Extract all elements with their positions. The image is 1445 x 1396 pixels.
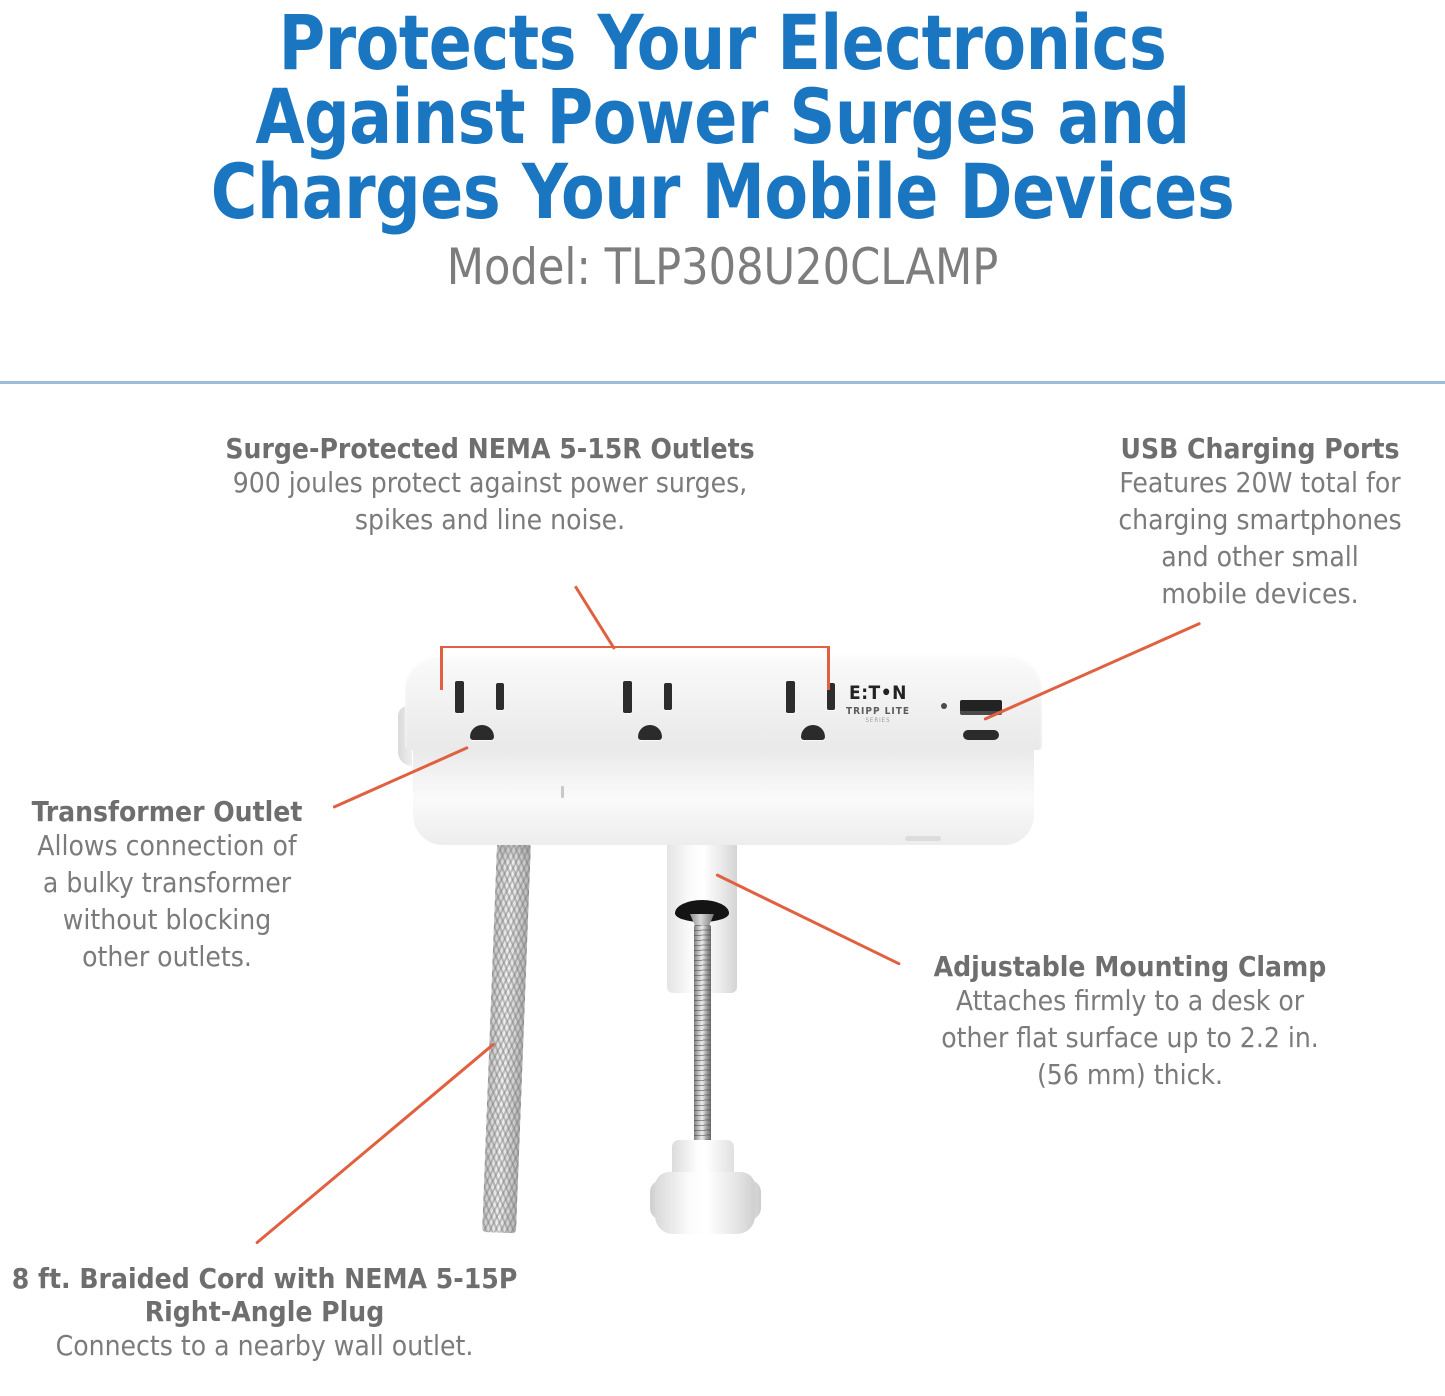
outlet-slot-neutral <box>786 681 795 713</box>
outlet-slot-hot <box>664 683 672 710</box>
callout-body-line: Connects to a nearby wall outlet. <box>0 1328 537 1365</box>
callout-transformer-outlet: Transformer Outlet Allows connection of … <box>0 795 342 976</box>
leader-bracket-outlets-left <box>440 646 443 690</box>
callout-body: Connects to a nearby wall outlet. <box>0 1328 537 1365</box>
callout-braided-cord: 8 ft. Braided Cord with NEMA 5-15P Right… <box>0 1262 537 1365</box>
outlet-slot-neutral <box>623 681 632 713</box>
callout-heading: USB Charging Ports <box>1080 432 1440 465</box>
callout-body-line: 900 joules protect against power surges, <box>125 465 855 502</box>
callout-usb-charging: USB Charging Ports Features 20W total fo… <box>1080 432 1440 613</box>
leader-bracket-outlets-stem <box>574 585 616 649</box>
callout-heading: Transformer Outlet <box>0 795 342 828</box>
callout-body-line: other flat surface up to 2.2 in. <box>890 1020 1370 1057</box>
callout-body-line: without blocking <box>0 902 342 939</box>
eaton-wordmark: E:T•N <box>836 684 920 703</box>
callout-mounting-clamp: Adjustable Mounting Clamp Attaches firml… <box>890 950 1370 1094</box>
callout-body-line: and other small <box>1080 539 1440 576</box>
leader-bracket-outlets-top <box>440 646 830 648</box>
product-illustration: E:T•N TRIPP LITE SERIES <box>0 0 1445 1396</box>
outlet-slot-neutral <box>455 681 464 713</box>
leader-line-cord <box>255 1042 495 1244</box>
outlet-ground-hole <box>801 725 825 740</box>
clamp-tightening-knob <box>655 1172 755 1234</box>
callout-body-line: (56 mm) thick. <box>890 1057 1370 1094</box>
brand-logo: E:T•N TRIPP LITE SERIES <box>836 684 920 724</box>
callout-surge-outlets: Surge-Protected NEMA 5-15R Outlets 900 j… <box>125 432 855 539</box>
leader-bracket-outlets-right <box>827 646 830 690</box>
outlet-slot-hot <box>496 683 504 710</box>
braided-power-cord <box>482 842 531 1233</box>
callout-body-line: spikes and line noise. <box>125 502 855 539</box>
front-face-notch <box>561 786 564 798</box>
nema-outlet-2 <box>614 681 692 751</box>
outlet-ground-hole <box>638 725 662 740</box>
callout-body: Features 20W total for charging smartpho… <box>1080 465 1440 613</box>
callout-body-line: Features 20W total for <box>1080 465 1440 502</box>
callout-heading: Adjustable Mounting Clamp <box>890 950 1370 983</box>
usb-c-port <box>963 730 999 740</box>
nema-outlet-1 <box>446 681 524 751</box>
status-led-icon <box>941 703 947 709</box>
outlet-ground-hole <box>470 725 494 740</box>
callout-body-line: mobile devices. <box>1080 576 1440 613</box>
clamp-threaded-screw <box>694 925 711 1155</box>
callout-body-line: Attaches firmly to a desk or <box>890 983 1370 1020</box>
front-face-seam <box>905 836 941 841</box>
callout-heading: 8 ft. Braided Cord with NEMA 5-15P Right… <box>0 1262 537 1328</box>
callout-body-line: other outlets. <box>0 939 342 976</box>
callout-body-line: Allows connection of <box>0 828 342 865</box>
callout-body-line: a bulky transformer <box>0 865 342 902</box>
callout-body-line: charging smartphones <box>1080 502 1440 539</box>
leader-line-clamp <box>715 873 901 966</box>
callout-body: Attaches firmly to a desk or other flat … <box>890 983 1370 1094</box>
series-wordmark: SERIES <box>836 718 920 724</box>
callout-body: 900 joules protect against power surges,… <box>125 465 855 539</box>
callout-body: Allows connection of a bulky transformer… <box>0 828 342 976</box>
callout-heading: Surge-Protected NEMA 5-15R Outlets <box>125 432 855 465</box>
strip-front-face <box>413 742 1034 845</box>
cord-shadow <box>500 843 530 863</box>
infographic-canvas: Protects Your Electronics Against Power … <box>0 0 1445 1396</box>
